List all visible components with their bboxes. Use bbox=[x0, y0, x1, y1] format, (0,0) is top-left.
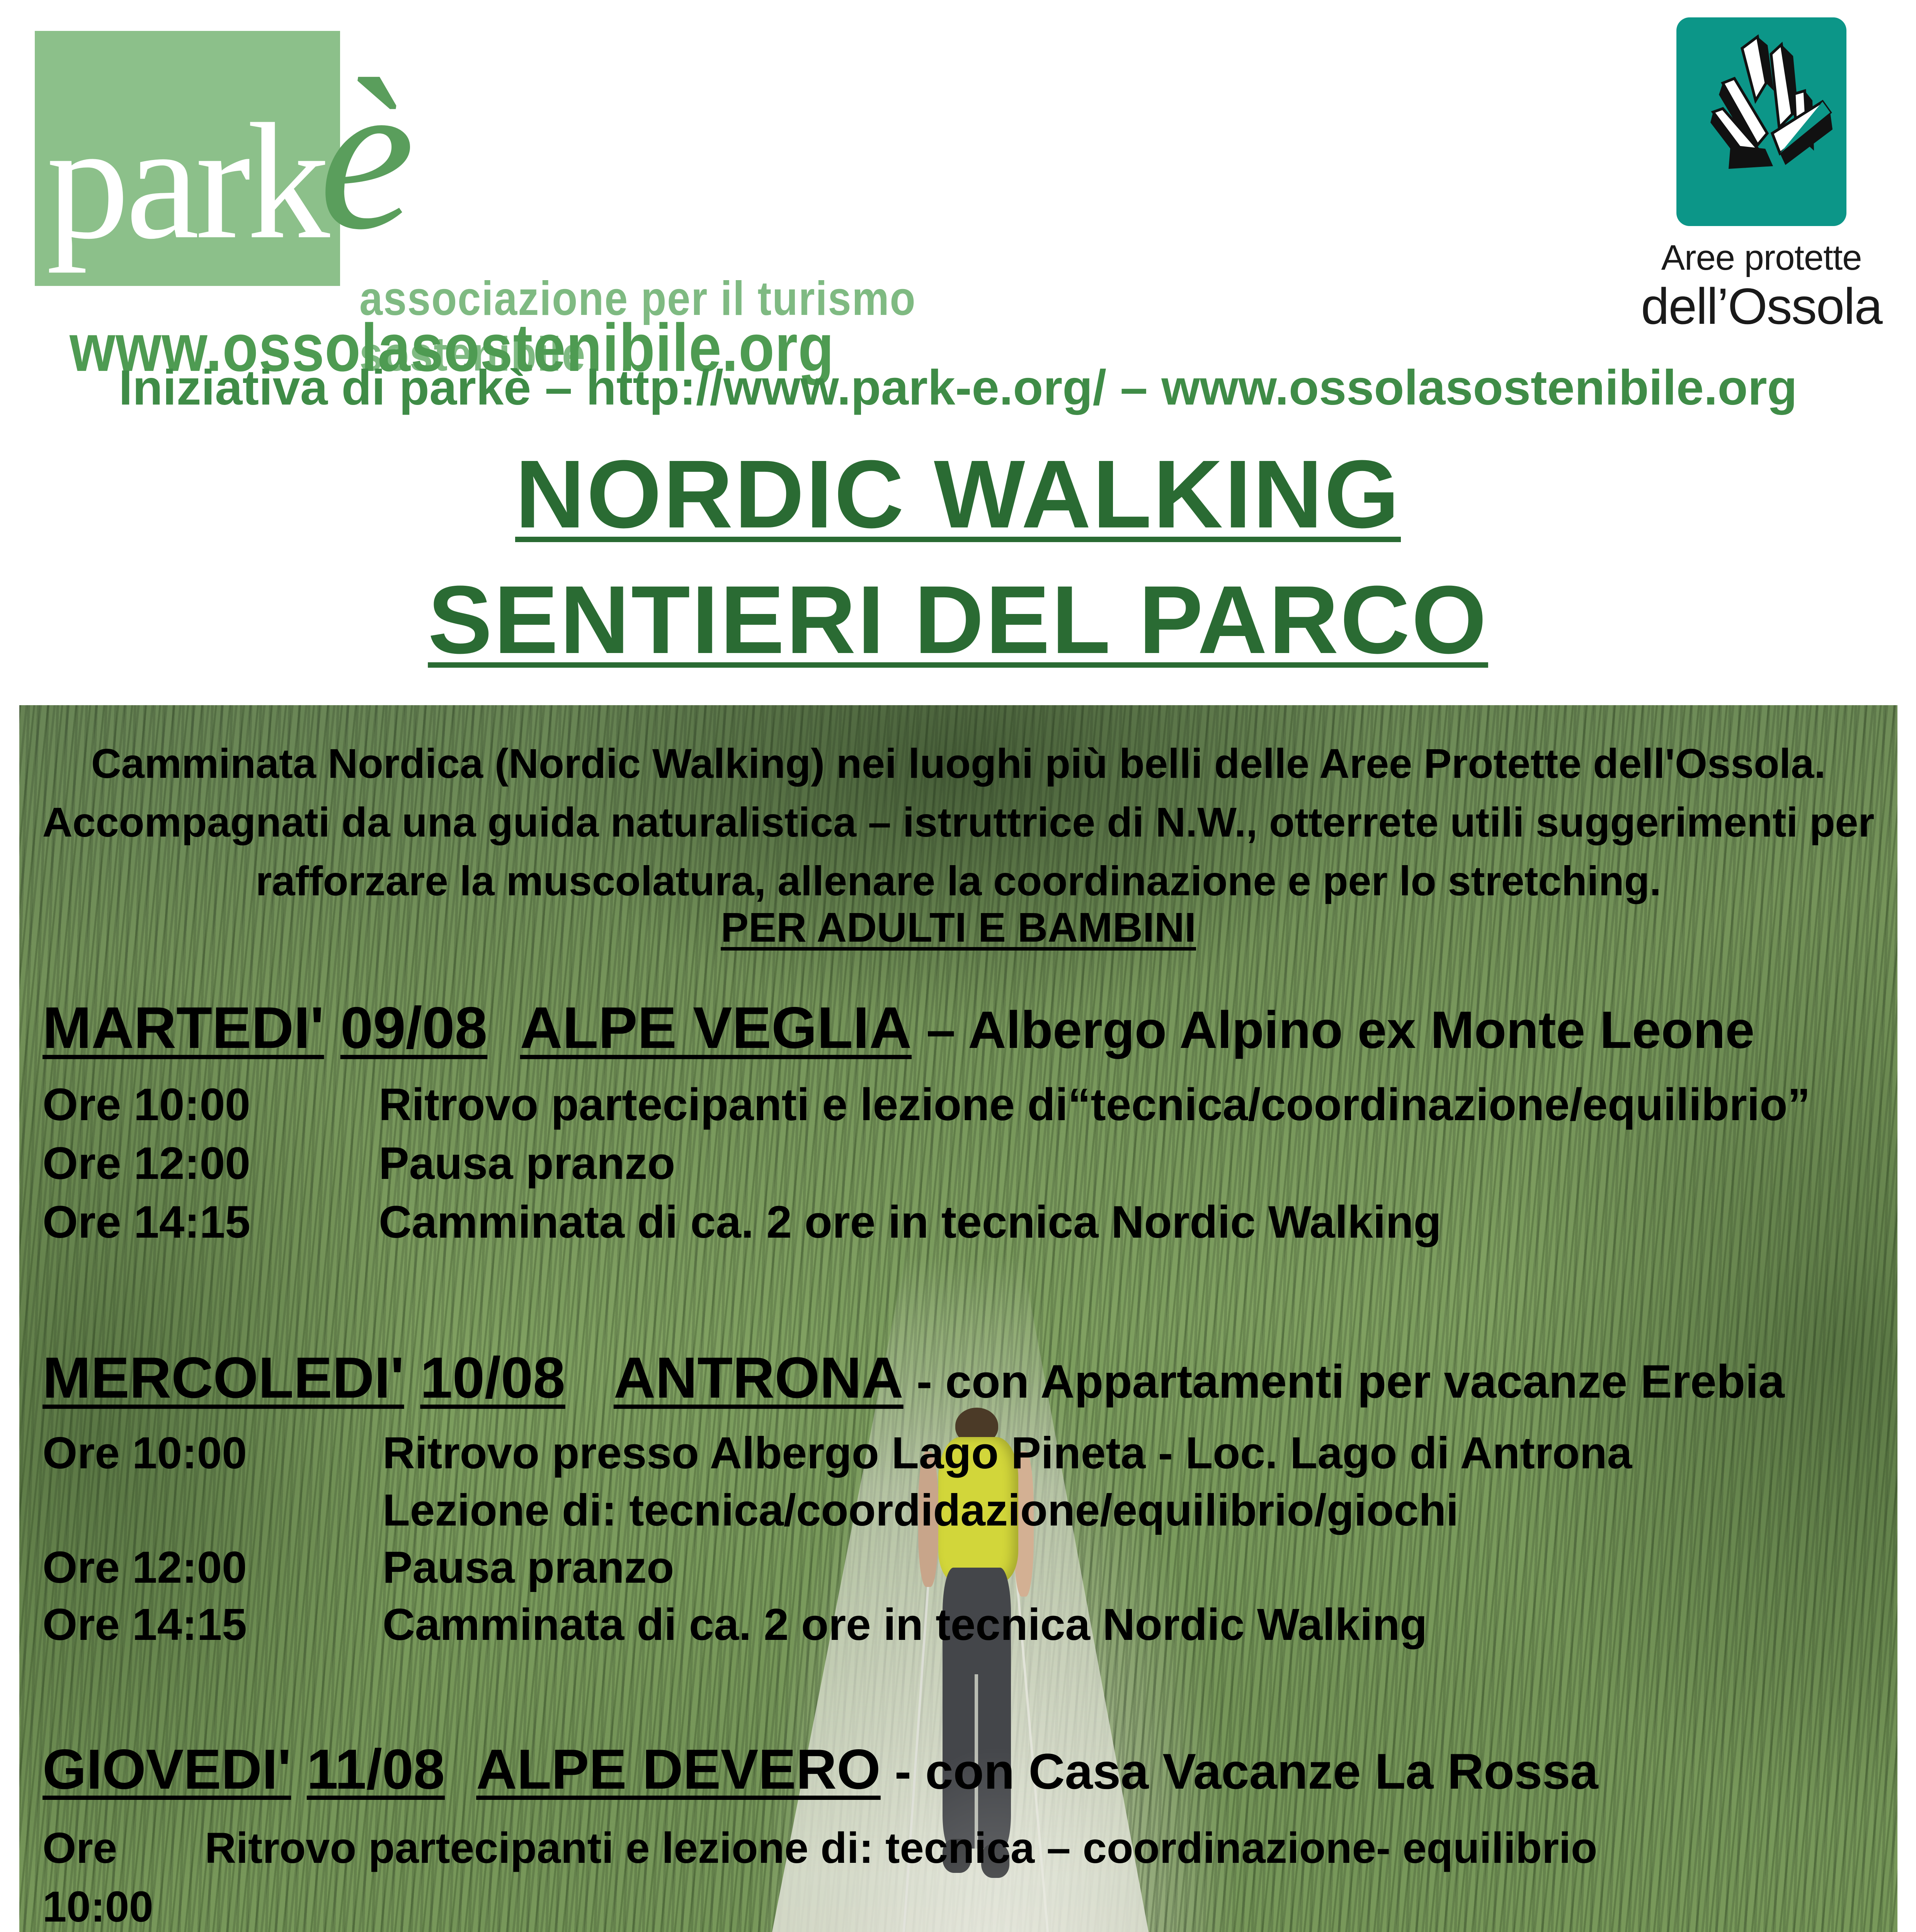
day-schedule: Ore 10:00Ritrovo partecipanti e lezione … bbox=[43, 1819, 1882, 1932]
schedule-desc: Camminata di ca. 2 ore in tecnica Nordic… bbox=[383, 1596, 1882, 1653]
page-title: NORDIC WALKING bbox=[0, 439, 1916, 549]
day-date: 11/08 bbox=[307, 1738, 445, 1801]
day-weekday: GIOVEDI' bbox=[43, 1738, 291, 1801]
aree-protette-ossola-logo: Aree protette dell’Ossola bbox=[1630, 17, 1893, 338]
intro-line-2: Accompagnati da una guida naturalistica … bbox=[19, 793, 1897, 852]
intro-paragraph: Camminata Nordica (Nordic Walking) nei l… bbox=[19, 734, 1897, 910]
day-schedule: Ore 10:00Ritrovo partecipanti e lezione … bbox=[43, 1075, 1882, 1252]
schedule-time bbox=[43, 1481, 383, 1539]
schedule-time: Ore 14:15 bbox=[43, 1596, 383, 1653]
parke-logo: park è associazione per il turismo soste… bbox=[35, 23, 1070, 332]
schedule-row: Ore 12:00Pausa pranzo bbox=[43, 1134, 1882, 1193]
page-subtitle: SENTIERI DEL PARCO bbox=[0, 564, 1916, 675]
aree-protette-label-line2: dell’Ossola bbox=[1630, 277, 1893, 335]
day-heading: MERCOLEDI' 10/08 ANTRONA - con Appartame… bbox=[43, 1349, 1882, 1410]
day-date: 09/08 bbox=[340, 995, 487, 1061]
schedule-row: Ore 10:00Ritrovo presso Albergo Lago Pin… bbox=[43, 1424, 1882, 1481]
schedule-desc: Ritrovo presso Albergo Lago Pineta - Loc… bbox=[383, 1424, 1882, 1481]
schedule-time: Ore 10:00 bbox=[43, 1424, 383, 1481]
day-place: ALPE VEGLIA bbox=[520, 995, 912, 1061]
schedule-time: Ore 10:00 bbox=[43, 1075, 379, 1134]
schedule-time: Ore 14:15 bbox=[43, 1193, 379, 1252]
day-block-martedi: MARTEDI' 09/08 ALPE VEGLIA – Albergo Alp… bbox=[43, 997, 1882, 1252]
day-date: 10/08 bbox=[420, 1345, 565, 1410]
schedule-time: Ore 12:00 bbox=[43, 1134, 379, 1193]
day-weekday: MARTEDI' bbox=[43, 995, 324, 1061]
poster-header: park è associazione per il turismo soste… bbox=[0, 0, 1916, 348]
day-partner: – Albergo Alpino ex Monte Leone bbox=[926, 1000, 1754, 1059]
schedule-row: Lezione di: tecnica/coordidazione/equili… bbox=[43, 1481, 1882, 1539]
day-place: ANTRONA bbox=[614, 1345, 904, 1410]
schedule-desc: Lezione di: tecnica/coordidazione/equili… bbox=[383, 1481, 1882, 1539]
schedule-row: Ore 10:00Ritrovo partecipanti e lezione … bbox=[43, 1075, 1882, 1134]
day-partner: - con Casa Vacanze La Rossa bbox=[895, 1743, 1598, 1799]
day-heading: MARTEDI' 09/08 ALPE VEGLIA – Albergo Alp… bbox=[43, 997, 1882, 1061]
initiative-line: Iniziativa di parkè – http://www.park-e.… bbox=[0, 359, 1916, 416]
day-schedule: Ore 10:00Ritrovo presso Albergo Lago Pin… bbox=[43, 1424, 1882, 1653]
aree-protette-label-line1: Aree protette bbox=[1630, 238, 1893, 278]
crystal-icon bbox=[1676, 17, 1846, 226]
schedule-row: Ore 14:15Camminata di ca. 2 ore in tecni… bbox=[43, 1193, 1882, 1252]
schedule-desc: Ritrovo partecipanti e lezione di“tecnic… bbox=[379, 1075, 1882, 1134]
intro-line-1: Camminata Nordica (Nordic Walking) nei l… bbox=[19, 734, 1897, 793]
schedule-desc: Camminata di ca. 2 ore in tecnica Nordic… bbox=[379, 1193, 1882, 1252]
intro-line-3: rafforzare la muscolatura, allenare la c… bbox=[19, 852, 1897, 910]
schedule-row: Ore 10:00Ritrovo partecipanti e lezione … bbox=[43, 1819, 1882, 1932]
schedule-desc: Pausa pranzo bbox=[379, 1134, 1882, 1193]
day-place: ALPE DEVERO bbox=[476, 1738, 881, 1801]
schedule-desc: Pausa pranzo bbox=[383, 1539, 1882, 1596]
day-partner: - con Appartamenti per vacanze Erebia bbox=[917, 1355, 1785, 1408]
schedule-row: Ore 14:15Camminata di ca. 2 ore in tecni… bbox=[43, 1596, 1882, 1653]
schedule-row: Ore 12:00Pausa pranzo bbox=[43, 1539, 1882, 1596]
parke-logo-accent-letter: è bbox=[319, 46, 415, 263]
audience-note-text: PER ADULTI E BAMBINI bbox=[721, 904, 1196, 951]
day-weekday: MERCOLEDI' bbox=[43, 1345, 404, 1410]
audience-note: PER ADULTI E BAMBINI bbox=[19, 902, 1897, 952]
day-heading: GIOVEDI' 11/08 ALPE DEVERO - con Casa Va… bbox=[43, 1739, 1882, 1802]
poster-root: park è associazione per il turismo soste… bbox=[0, 0, 1916, 1932]
schedule-time: Ore 10:00 bbox=[43, 1819, 205, 1932]
day-block-giovedi: GIOVEDI' 11/08 ALPE DEVERO - con Casa Va… bbox=[43, 1739, 1882, 1932]
day-block-mercoledi: MERCOLEDI' 10/08 ANTRONA - con Appartame… bbox=[43, 1349, 1882, 1653]
schedule-desc: Ritrovo partecipanti e lezione di: tecni… bbox=[205, 1819, 1882, 1932]
parke-logo-word: park bbox=[46, 99, 326, 265]
schedule-time: Ore 12:00 bbox=[43, 1539, 383, 1596]
